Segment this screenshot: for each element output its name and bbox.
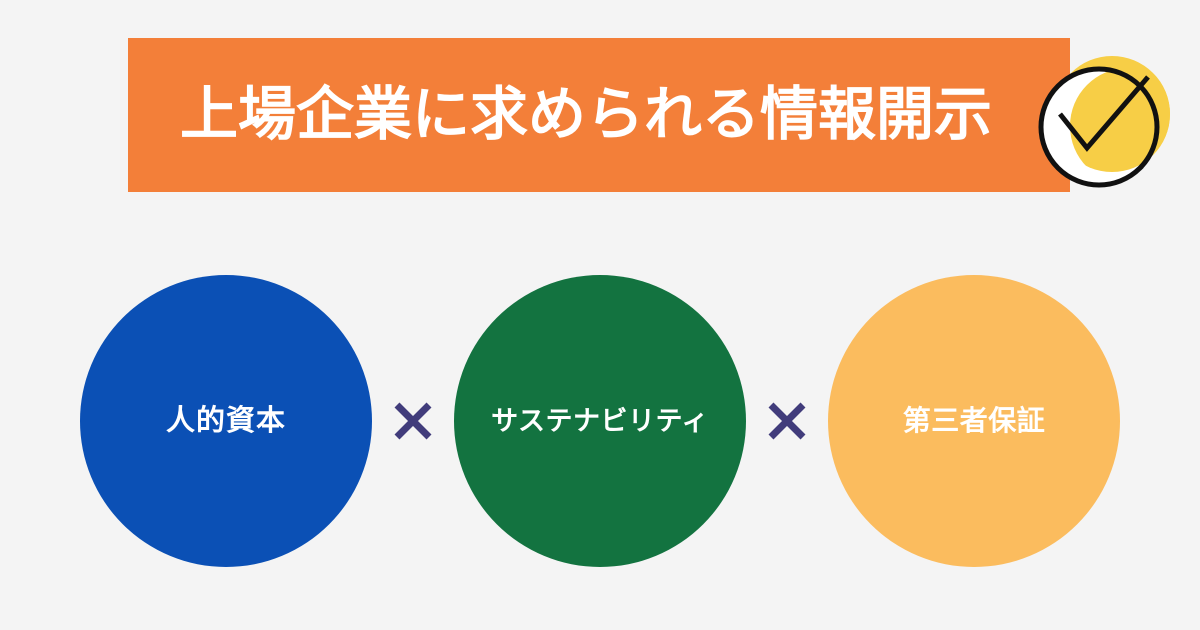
multiply-icon	[391, 399, 435, 443]
concept-circle-human-capital[interactable]: 人的資本	[80, 275, 372, 567]
concept-circle-third-party-assurance[interactable]: 第三者保証	[828, 275, 1120, 567]
concept-circle-sustainability[interactable]: サステナビリティ	[454, 275, 746, 567]
multiply-separator-2	[746, 275, 828, 567]
badge-check-stroke	[1060, 77, 1148, 148]
concept-label-third-party-assurance: 第三者保証	[903, 407, 1046, 435]
concept-label-sustainability: サステナビリティ	[491, 408, 709, 435]
multiply-separator-1	[372, 275, 454, 567]
title-banner: 上場企業に求められる情報開示	[128, 38, 1070, 192]
concept-label-human-capital: 人的資本	[166, 407, 286, 436]
concept-row: 人的資本 サステナビリティ 第三者保証	[0, 275, 1200, 567]
slide-canvas: 上場企業に求められる情報開示 人的資本 サステナビリティ	[0, 0, 1200, 630]
badge-yellow-disc-top	[1054, 56, 1170, 172]
badge-yellow-disc	[1054, 56, 1170, 172]
multiply-icon	[765, 399, 809, 443]
page-title: 上場企業に求められる情報開示	[180, 86, 992, 144]
